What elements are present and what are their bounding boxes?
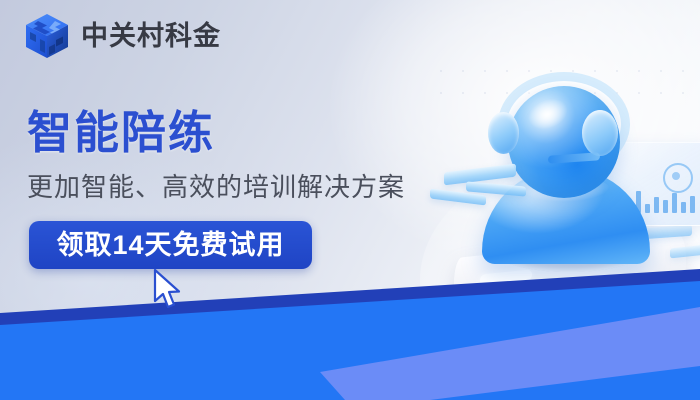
equalizer-bar [645, 204, 650, 213]
mouse-pointer-icon [152, 268, 186, 312]
equalizer-bar [681, 202, 686, 213]
equalizer-bar [672, 193, 677, 213]
promo-banner: 中关村科金 智能陪练 更加智能、高效的培训解决方案 [0, 0, 700, 400]
cube-logo-icon [24, 12, 70, 60]
free-trial-cta-button[interactable]: 领取14天免费试用 [29, 221, 312, 269]
page-title: 智能陪练 [27, 110, 215, 155]
equalizer-bar [663, 200, 668, 213]
brand-logo[interactable]: 中关村科金 [24, 12, 221, 60]
band-blue-corner [430, 366, 700, 400]
customer-service-avatar-icon [430, 50, 700, 340]
headset-earcup-left [488, 112, 519, 154]
page-subtitle: 更加智能、高效的培训解决方案 [27, 174, 405, 200]
panel-ring-icon [663, 163, 693, 193]
equalizer-bar [690, 196, 695, 213]
brand-name: 中关村科金 [81, 23, 221, 50]
headset-earcup-right [582, 110, 618, 156]
equalizer-bar [654, 197, 659, 213]
